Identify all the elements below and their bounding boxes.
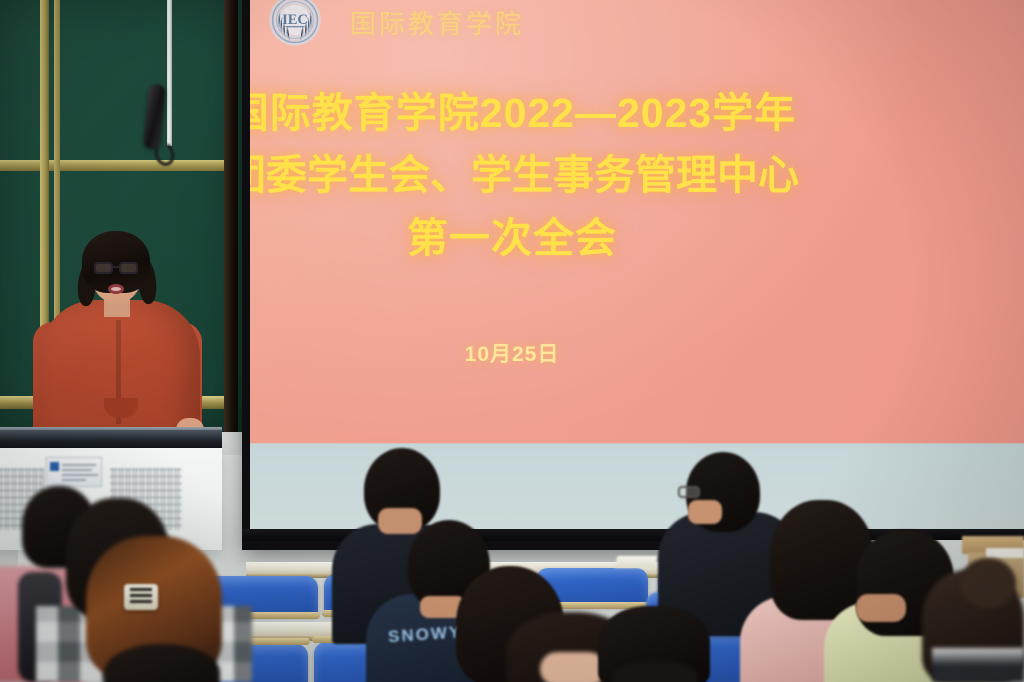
paper-on-wooden-desk [986, 548, 1024, 558]
classroom-presentation-scene: IEC 国际教育学院 国际教育学院2022—2023学年 团委学生会、学生事务管… [0, 0, 1024, 682]
blackboard-screen-divider [224, 0, 238, 432]
eyeglasses-icon [678, 486, 700, 498]
slide-org-name: 国际教育学院 [350, 4, 524, 41]
student-bun-right-collar [932, 648, 1024, 682]
eyeglasses-icon-left-lens [94, 262, 113, 274]
eyeglasses-icon-bridge [112, 266, 120, 268]
student-ponytail-face [540, 652, 606, 682]
svg-text:IEC: IEC [282, 12, 308, 28]
notebook-on-desk [615, 556, 658, 568]
slide-title-line-3: 第一次全会 [250, 207, 1024, 269]
student-glasses-neck [688, 500, 722, 524]
presenter-mouth [108, 284, 124, 294]
student-bun-right-edge-bun [960, 558, 1016, 608]
slide-title-line-2: 团委学生会、学生事务管理中心 [250, 144, 1024, 206]
iec-seal-logo: IEC [265, 0, 325, 48]
presentation-slide: IEC 国际教育学院 国际教育学院2022—2023学年 团委学生会、学生事务管… [250, 0, 1024, 529]
hair-claw-clip [124, 584, 158, 610]
lectern-label-plate [46, 457, 102, 487]
student-green-hoodie-neck [856, 594, 906, 622]
eyeglasses-icon-right-lens [119, 262, 138, 274]
slide-title-line-1: 国际教育学院2022—2023学年 [250, 82, 1024, 144]
microphone-wire [167, 0, 172, 146]
lectern-top-surface [0, 430, 222, 448]
student-back-row-neck [378, 508, 422, 534]
blackboard-rail-horizontal-upper [0, 160, 232, 171]
slide-date: 10月25日 [250, 338, 1024, 368]
